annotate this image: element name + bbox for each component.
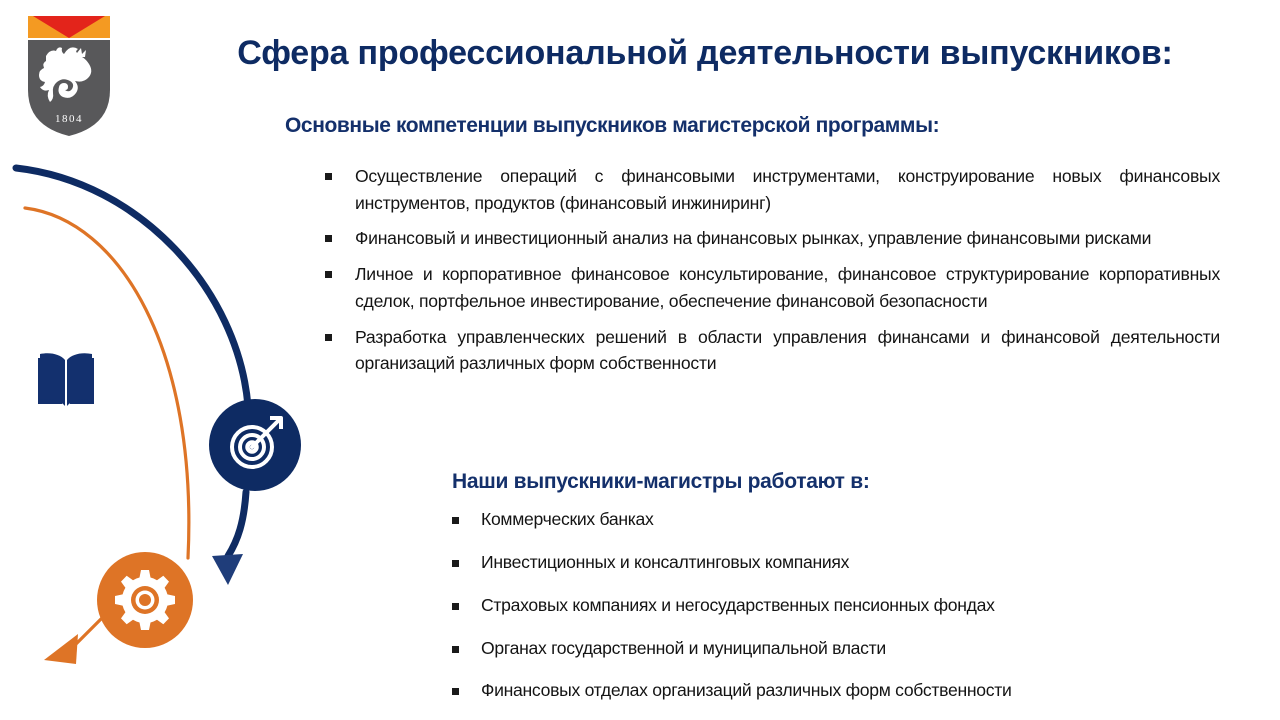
list-item: Финансовый и инвестиционный анализ на фи… — [325, 225, 1220, 252]
list-item-text: Органах государственной и муниципальной … — [481, 637, 886, 660]
decorative-graphic — [0, 140, 320, 700]
list-item: Финансовых отделах организаций различных… — [452, 679, 1212, 702]
gear-icon — [115, 570, 175, 630]
list-item-text: Инвестиционных и консалтинговых компания… — [481, 551, 849, 574]
bullet-square-icon — [452, 517, 459, 524]
navy-arc-tail — [228, 492, 246, 556]
bullet-square-icon — [452, 603, 459, 610]
bullet-square-icon — [452, 560, 459, 567]
list-item-text: Осуществление операций с финансовыми инс… — [355, 163, 1220, 216]
university-logo: 1804 — [14, 8, 124, 138]
bullet-square-icon — [325, 235, 332, 242]
employers-heading: Наши выпускники-магистры работают в: — [452, 470, 870, 494]
slide-title: Сфера профессиональной деятельности выпу… — [150, 34, 1260, 73]
bullet-square-icon — [325, 271, 332, 278]
list-item: Органах государственной и муниципальной … — [452, 637, 1212, 660]
bullet-square-icon — [452, 646, 459, 653]
navy-arrowhead — [212, 554, 243, 585]
list-item-text: Личное и корпоративное финансовое консул… — [355, 261, 1220, 314]
slide: 1804 — [0, 0, 1280, 720]
list-item-text: Страховых компаниях и негосударственных … — [481, 594, 995, 617]
list-item-text: Коммерческих банках — [481, 508, 654, 531]
list-item: Коммерческих банках — [452, 508, 1212, 531]
list-item: Осуществление операций с финансовыми инс… — [325, 163, 1220, 216]
competencies-list: Осуществление операций с финансовыми инс… — [325, 163, 1220, 386]
list-item-text: Разработка управленческих решений в обла… — [355, 324, 1220, 377]
list-item-text: Финансовых отделах организаций различных… — [481, 679, 1012, 702]
employers-list: Коммерческих банках Инвестиционных и кон… — [452, 508, 1212, 720]
list-item: Личное и корпоративное финансовое консул… — [325, 261, 1220, 314]
list-item: Инвестиционных и консалтинговых компания… — [452, 551, 1212, 574]
logo-year: 1804 — [55, 113, 83, 125]
bullet-square-icon — [325, 334, 332, 341]
book-icon — [38, 353, 94, 406]
competencies-heading: Основные компетенции выпускников магисте… — [285, 114, 939, 138]
list-item: Страховых компаниях и негосударственных … — [452, 594, 1212, 617]
list-item-text: Финансовый и инвестиционный анализ на фи… — [355, 225, 1220, 252]
orange-arrowhead — [44, 634, 78, 664]
bullet-square-icon — [325, 173, 332, 180]
list-item: Разработка управленческих решений в обла… — [325, 324, 1220, 377]
bullet-square-icon — [452, 688, 459, 695]
